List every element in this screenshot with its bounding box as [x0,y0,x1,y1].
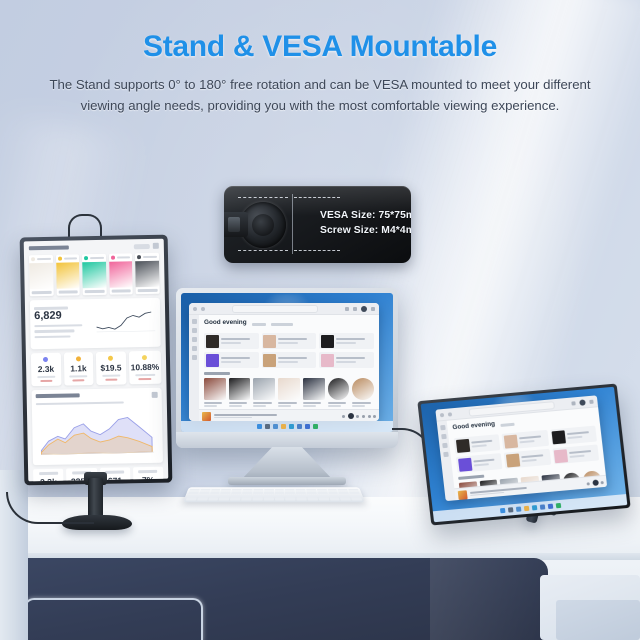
keyboard[interactable] [183,487,365,502]
page-title: Stand & VESA Mountable [0,30,640,64]
left-portrait-monitor: 6,829 2.3k1.1k$19.510.88% [20,235,173,486]
keyboard-key[interactable] [230,498,240,500]
photo-card[interactable] [82,254,106,295]
start-icon[interactable] [257,424,262,429]
now-playing-title [214,414,277,416]
keyboard-key[interactable] [307,495,317,497]
album-row [204,378,374,407]
center-monitor-chin [176,432,398,448]
music-app-window: Good evening [189,303,379,421]
edge-icon[interactable] [289,424,294,429]
forward-icon[interactable] [201,307,205,311]
keyboard-key[interactable] [199,492,209,494]
desk-box-right-lower [556,600,640,640]
center-desktop-monitor: Good evening [176,288,398,448]
keyboard-key[interactable] [296,498,306,500]
keyboard-key[interactable] [307,492,317,494]
stat-tile: 1.1k [63,352,93,385]
sidebar-item-search-right[interactable] [441,434,447,439]
hero-metric-panel: 6,829 [30,298,161,349]
keyboard-key[interactable] [317,489,327,491]
dashboard-action-icon[interactable] [153,243,159,249]
album-tile[interactable] [229,378,251,407]
keyboard-key[interactable] [211,489,221,491]
mail-icon[interactable] [547,504,553,509]
keyboard-key[interactable] [187,495,198,497]
keyboard-keys [186,489,362,500]
back-icon[interactable] [193,307,197,311]
keyboard-key[interactable] [307,498,317,500]
center-monitor-screen: Good evening [181,293,393,432]
keyboard-key[interactable] [242,495,252,497]
greeting-text-right: Good evening [452,420,495,431]
sidebar-item-settings-right[interactable] [443,452,449,457]
app-sidebar [189,315,199,421]
shuffle-icon[interactable] [362,415,365,418]
keyboard-key[interactable] [186,498,197,500]
start-icon[interactable] [499,508,505,513]
right-monitor-screen: Good evening [421,387,628,522]
area-chart-menu-icon[interactable] [152,391,158,397]
keyboard-key[interactable] [198,495,209,497]
dashboard-title [29,246,69,251]
shortcut-item[interactable] [319,333,374,349]
greeting-text: Good evening [204,319,247,326]
avatar-right[interactable] [579,399,586,405]
keyboard-key[interactable] [253,492,263,494]
keyboard-key[interactable] [296,495,306,497]
keyboard-key[interactable] [243,489,253,491]
forward-icon-right[interactable] [448,412,452,416]
music-icon[interactable] [555,503,561,508]
keyboard-key[interactable] [318,495,328,497]
photo-card[interactable] [109,253,133,294]
keyboard-key[interactable] [275,495,285,497]
keyboard-key[interactable] [318,498,328,500]
sidebar-item-library[interactable] [192,337,197,342]
tab-podcasts[interactable] [271,323,293,326]
now-playing-text [214,414,339,419]
keyboard-key[interactable] [252,498,262,500]
shortcut-item[interactable] [504,449,551,469]
keyboard-key[interactable] [264,489,274,491]
play-button[interactable] [348,413,354,419]
shortcut-item[interactable] [262,352,317,368]
area-chart-panel [32,387,163,465]
now-playing-bar [199,409,379,421]
shortcut-item[interactable] [262,333,317,349]
keyboard-key[interactable] [253,489,263,491]
keyboard-key[interactable] [349,492,359,494]
keyboard-key[interactable] [350,495,361,497]
album-tile[interactable] [253,378,275,407]
app-body: Good evening [189,315,379,421]
keyboard-key[interactable] [209,495,219,497]
shortcut-item[interactable] [552,444,599,464]
stat-value: $19.5 [98,362,124,372]
app-main-content-right: Good evening [447,407,607,501]
keyboard-key[interactable] [274,492,284,494]
minimize-icon[interactable] [345,307,349,311]
keyboard-key[interactable] [219,498,229,500]
music-app-window-right: Good evening [435,395,607,501]
app-body-right: Good evening [437,407,607,501]
dashboard-header-actions [134,243,159,249]
sidebar-item-home[interactable] [192,319,197,324]
close-icon-right[interactable] [589,399,593,403]
photo-card-row [24,251,165,301]
widgets-icon[interactable] [515,507,521,512]
vesa-size-text: VESA Size: 75*75mm Screw Size: M4*4mm [320,208,411,238]
minimize-icon-right[interactable] [571,401,575,405]
photo-card[interactable] [56,254,80,295]
keyboard-key[interactable] [329,495,339,497]
keyboard-key[interactable] [328,492,338,494]
keyboard-key[interactable] [241,498,251,500]
search-input[interactable] [232,305,318,313]
keyboard-key[interactable] [200,489,210,491]
keyboard-key[interactable] [329,498,340,500]
shortcut-item[interactable] [319,352,374,368]
music-icon[interactable] [313,424,318,429]
stat-tile: $19.5 [96,351,126,384]
stat-tile-row: 2.3k1.1k$19.510.88% [26,351,167,390]
tab-music-right[interactable] [500,422,514,426]
keyboard-key[interactable] [221,489,231,491]
keyboard-key[interactable] [327,489,337,491]
chair-highlight [430,558,550,640]
keyboard-key[interactable] [232,489,242,491]
section-title-right [458,475,484,480]
explorer-icon[interactable] [281,424,286,429]
hero-metric-sub [34,324,82,327]
shortcut-item[interactable] [204,333,259,349]
measure-line-bottom-left [238,250,288,251]
avatar[interactable] [361,306,367,312]
bottom-stat-value: 7% [135,474,161,481]
keyboard-key[interactable] [348,489,358,491]
keyboard-key[interactable] [285,492,295,494]
keyboard-key[interactable] [221,492,231,494]
area-chart-title [36,393,80,398]
bottom-stat-value: 2.3k [35,476,61,481]
keyboard-key[interactable] [296,489,306,491]
stat-value: 10.88% [131,362,160,373]
keyboard-key[interactable] [285,495,295,497]
search-icon[interactable] [265,424,270,429]
album-tile[interactable] [352,378,374,407]
close-icon[interactable] [371,307,375,311]
play-button-right[interactable] [592,480,599,486]
keyboard-key[interactable] [264,492,274,494]
album-tile[interactable] [303,378,325,407]
store-icon[interactable] [297,424,302,429]
keyboard-key[interactable] [263,498,273,500]
keyboard-key[interactable] [274,489,284,491]
back-icon-right[interactable] [440,412,444,416]
hero-metric-value: 6,829 [34,309,90,322]
section-title [204,372,230,375]
sidebar-item-home-right[interactable] [440,425,446,430]
keyboard-key[interactable] [306,489,316,491]
screw-size-line: Screw Size: M4*4mm [320,223,411,238]
keyboard-key[interactable] [210,492,220,494]
photo-card[interactable] [29,255,53,296]
sidebar-item-library-right[interactable] [442,443,448,448]
hero-line-chart [95,302,157,344]
vesa-callout-plate: VESA Size: 75*75mm Screw Size: M4*4mm [224,186,411,263]
bottom-stat: 2.3k [33,469,64,482]
measure-line-top-left [238,197,288,198]
stat-tile: 2.3k [31,353,61,386]
keyboard-key[interactable] [339,492,349,494]
area-chart-svg [36,406,159,456]
fullscreen-icon[interactable] [373,415,376,418]
keyboard-key[interactable] [339,495,350,497]
keyboard-key[interactable] [208,498,219,500]
next-icon[interactable] [356,415,359,418]
page-subcopy: The Stand supports 0° to 180° free rotat… [45,74,595,116]
product-marketing-image: Stand & VESA Mountable The Stand support… [0,0,640,640]
measure-line-top-right [294,197,340,198]
stat-tile: 10.88% [128,351,161,384]
keyboard-key[interactable] [264,495,274,497]
keyboard-key[interactable] [197,498,208,500]
vesa-size-line: VESA Size: 75*75mm [320,208,411,223]
keyboard-key[interactable] [231,495,241,497]
mail-icon[interactable] [305,424,310,429]
keyboard-key[interactable] [340,498,351,500]
widgets-icon[interactable] [273,424,278,429]
store-icon[interactable] [539,504,545,509]
volume-controls [362,415,376,418]
shortcut-item[interactable] [550,426,597,446]
bottom-stat: 7% [133,467,164,482]
keyboard-key[interactable] [220,495,230,497]
keyboard-key[interactable] [275,498,285,500]
keyboard-key[interactable] [285,489,295,491]
app-titlebar [189,303,379,315]
album-tile[interactable] [204,378,226,407]
sidebar-item-settings[interactable] [192,355,197,360]
greeting-row: Good evening [204,319,374,329]
center-monitor-foot [228,477,346,485]
windows-taskbar [181,421,393,432]
keyboard-key[interactable] [338,489,348,491]
shortcut-grid-right [454,426,599,473]
vesa-hub-inner [252,214,274,236]
left-monitor-screen: 6,829 2.3k1.1k$19.510.88% [24,239,169,482]
right-portable-monitor: Good evening [417,384,630,526]
keyboard-key[interactable] [296,492,306,494]
playback-controls [342,413,359,419]
search-icon[interactable] [507,507,513,512]
photo-card[interactable] [135,253,159,294]
shortcut-item[interactable] [454,434,501,454]
keyboard-key[interactable] [317,492,327,494]
shortcut-grid [204,333,374,368]
previous-icon[interactable] [342,415,345,418]
album-tile[interactable] [328,378,350,407]
sidebar-item-search[interactable] [192,328,197,333]
playback-controls-right [586,479,604,486]
keyboard-key[interactable] [253,495,263,497]
stat-value: 1.1k [66,363,92,373]
keyboard-key[interactable] [242,492,252,494]
hero-metric-legend-1 [34,329,74,332]
keyboard-key[interactable] [285,498,295,500]
sidebar-item-playlists[interactable] [192,346,197,351]
keyboard-key[interactable] [351,498,362,500]
shortcut-item[interactable] [502,430,549,450]
now-playing-artist [214,417,252,419]
now-playing-artwork-right [458,490,468,500]
keyboard-key[interactable] [231,492,241,494]
keyboard-key[interactable] [189,489,199,491]
shortcut-item[interactable] [204,352,259,368]
chair-armrest [24,598,203,640]
area-chart-subtitle [36,401,124,405]
app-main-content: Good evening [199,315,379,421]
edge-icon[interactable] [531,505,537,510]
next-icon-right[interactable] [600,481,603,484]
keyboard-key[interactable] [188,492,198,494]
explorer-icon[interactable] [523,506,529,511]
previous-icon-right[interactable] [587,482,590,485]
hero-metric-legend-2 [35,335,71,338]
tab-music[interactable] [252,323,266,326]
album-tile[interactable] [278,378,300,407]
measure-line-vertical [292,194,293,254]
now-playing-artwork [202,412,211,421]
stat-value: 2.3k [33,364,59,374]
volume-icon[interactable] [368,415,371,418]
shortcut-item[interactable] [456,453,503,473]
dashboard-action-pill[interactable] [134,243,150,248]
measure-line-bottom-right [294,250,340,251]
vesa-bracket-clamp [228,217,240,232]
maximize-icon[interactable] [353,307,357,311]
